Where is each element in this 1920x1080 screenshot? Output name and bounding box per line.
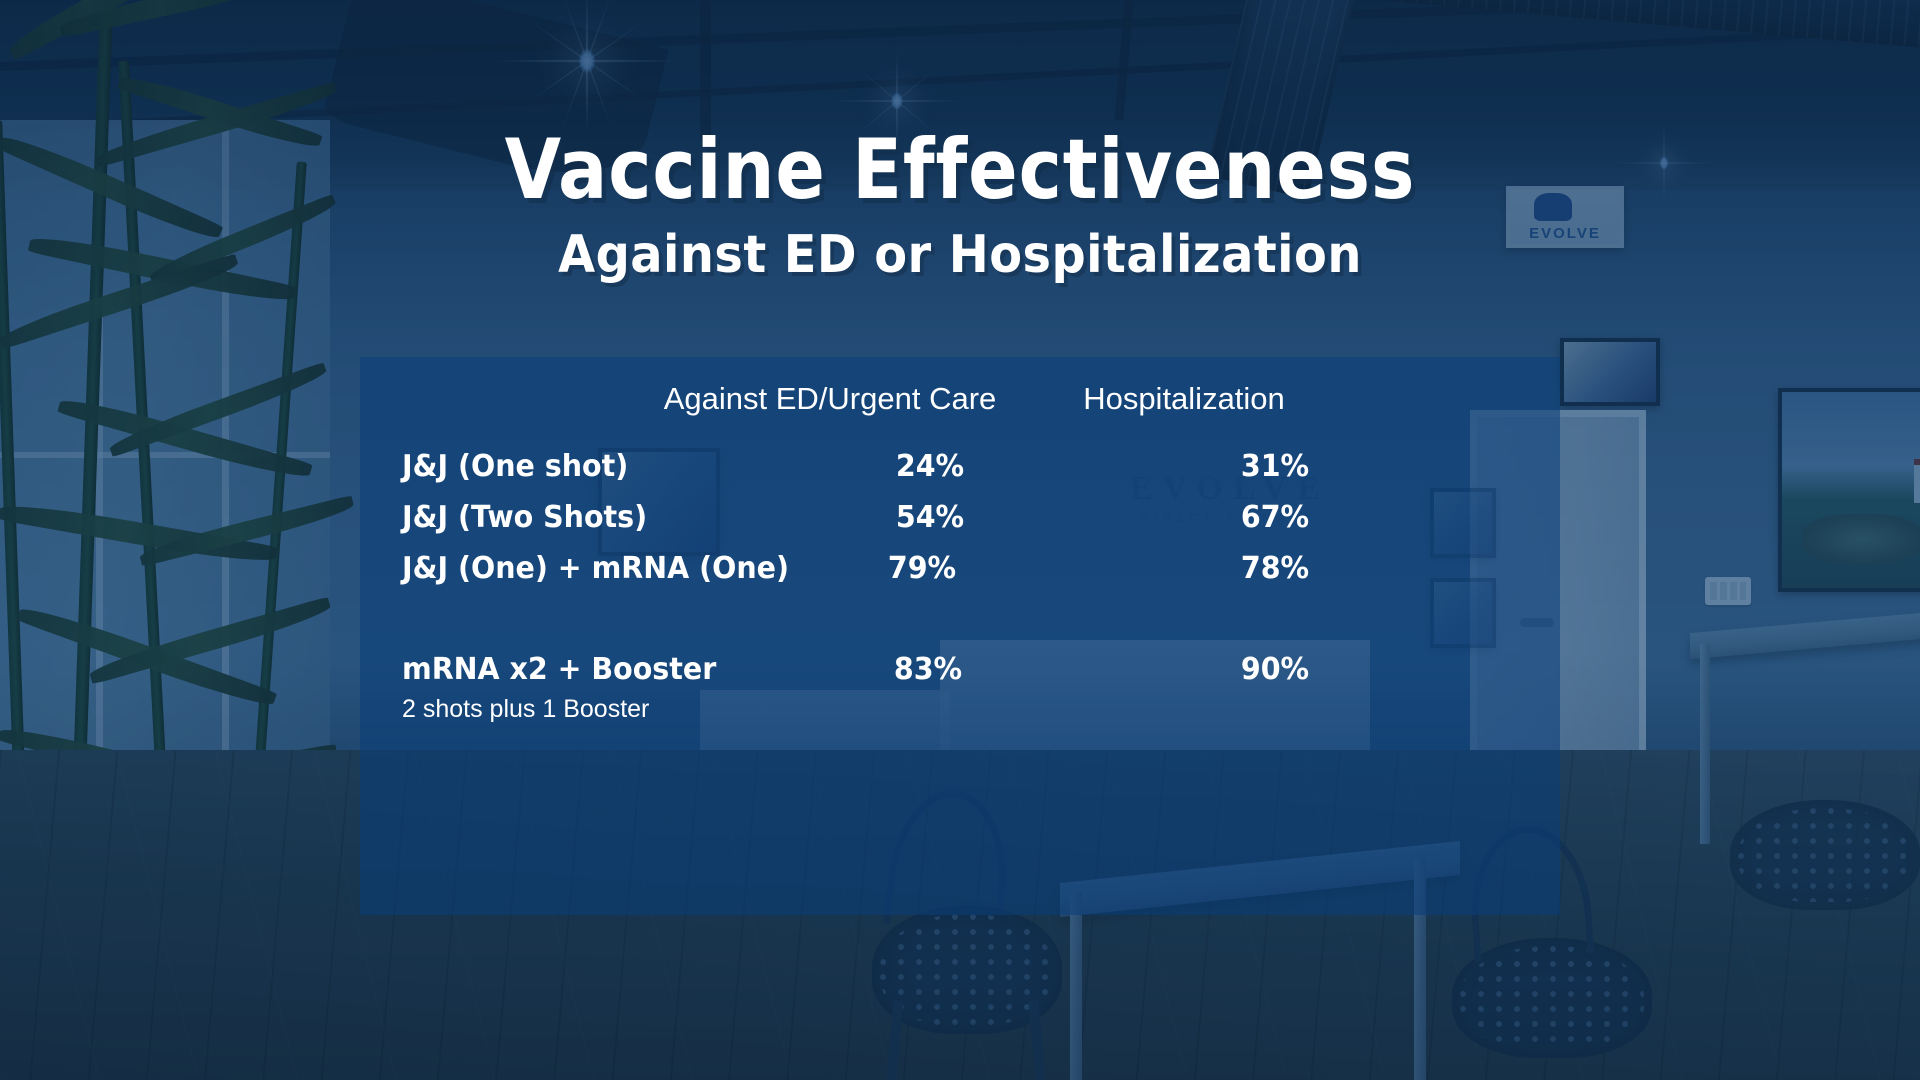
column-header-ed-urgent-care: Against ED/Urgent Care [635,381,1025,417]
row-value-ed: 54% [826,500,1035,535]
effectiveness-table: Against ED/Urgent Care Hospitalization J… [360,357,1560,915]
page-title: Vaccine Effectiveness [115,128,1805,211]
row-value-hosp: 90% [1156,652,1394,687]
row-note: 2 shots plus 1 Booster [402,695,649,724]
row-value-hosp: 78% [1156,551,1394,586]
row-label: J&J (One) + mRNA (One) [402,551,849,586]
row-value-ed: 79% [818,551,1027,586]
row-value-hosp: 31% [1156,449,1394,484]
row-value-hosp: 67% [1156,500,1394,535]
column-header-hospitalization: Hospitalization [988,381,1380,417]
row-label: J&J (Two Shots) [402,500,849,535]
row-value-ed: 83% [824,652,1033,687]
page-subtitle: Against ED or Hospitalization [77,229,1843,281]
slide-root: EVOLVE DIRECT PRIMARY EVOLVE [0,0,1920,1080]
row-label: J&J (One shot) [402,449,849,484]
row-value-ed: 24% [826,449,1035,484]
title-block: Vaccine Effectiveness Against ED or Hosp… [0,128,1920,281]
row-label: mRNA x2 + Booster [402,652,849,687]
